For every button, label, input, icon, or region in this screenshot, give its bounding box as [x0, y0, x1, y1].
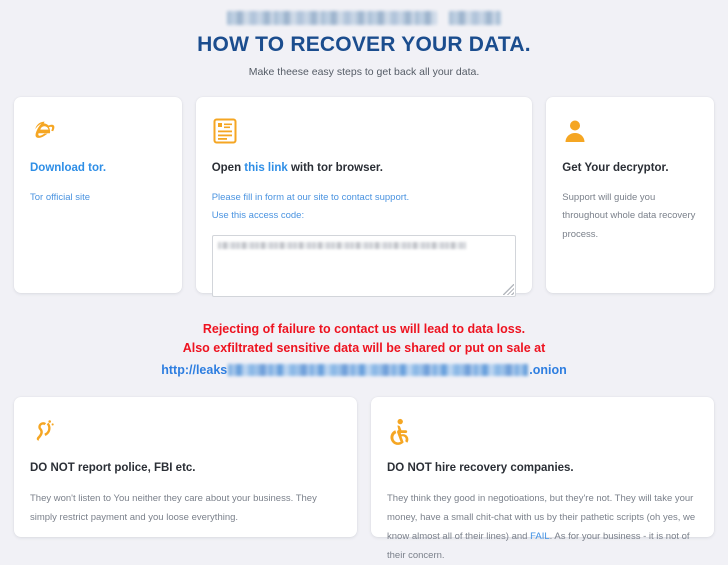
step-card-get-decryptor: Get Your decryptor. Support will guide y…	[546, 97, 714, 293]
page-subtitle: Make theese easy steps to get back all y…	[0, 66, 728, 78]
steps-row: Download tor. Tor official site Open thi…	[0, 97, 728, 293]
page-title: HOW TO RECOVER YOUR DATA.	[0, 33, 728, 57]
title-prefix: Open	[212, 162, 245, 174]
this-link-anchor[interactable]: this link	[244, 162, 287, 174]
notice-card-title: DO NOT hire recovery companies.	[387, 461, 698, 476]
redacted-bar-secondary	[449, 11, 501, 25]
deaf-ear-icon	[30, 417, 341, 447]
title-suffix: with tor browser.	[288, 162, 383, 174]
redacted-header-strip	[0, 9, 728, 27]
url-prefix: http://leaks	[161, 363, 227, 377]
step-card-download-tor: Download tor. Tor official site	[14, 97, 182, 293]
warning-line-1: Rejecting of failure to contact us will …	[0, 320, 728, 339]
clipboard-list-icon	[212, 117, 517, 147]
step-card-open-link: Open this link with tor browser. Please …	[196, 97, 533, 293]
step-card-title: Download tor.	[30, 161, 166, 176]
redacted-bar-primary	[227, 11, 437, 25]
user-icon	[562, 117, 698, 147]
leak-site-url[interactable]: http://leaks.onion	[0, 361, 728, 380]
notice-card-body: They think they good in negotioations, b…	[387, 489, 698, 565]
contact-support-text[interactable]: Please fill in form at our site to conta…	[212, 189, 517, 208]
redacted-url-segment	[228, 364, 528, 376]
fail-highlight[interactable]: FAIL	[530, 531, 550, 542]
step-card-title: Open this link with tor browser.	[212, 161, 517, 176]
notice-card-do-not-report: DO NOT report police, FBI etc. They won'…	[14, 397, 357, 537]
ransom-note-page: HOW TO RECOVER YOUR DATA. Make theese ea…	[0, 0, 728, 561]
notice-card-body: They won't listen to You neither they ca…	[30, 489, 341, 527]
tor-official-site-link[interactable]: Tor official site	[30, 189, 166, 208]
textarea-resize-handle[interactable]	[503, 284, 514, 295]
url-suffix: .onion	[529, 363, 567, 377]
wheelchair-accessible-icon	[387, 417, 698, 447]
step-card-text: Support will guide you throughout whole …	[562, 189, 698, 245]
warning-line-2: Also exfiltrated sensitive data will be …	[0, 339, 728, 358]
page-header: HOW TO RECOVER YOUR DATA. Make theese ea…	[0, 0, 728, 78]
access-code-label[interactable]: Use this access code:	[212, 207, 517, 226]
redacted-access-code	[218, 242, 466, 249]
notices-row: DO NOT report police, FBI etc. They won'…	[0, 397, 728, 537]
warning-block: Rejecting of failure to contact us will …	[0, 320, 728, 380]
access-code-textarea[interactable]	[212, 235, 517, 297]
internet-explorer-icon	[30, 117, 166, 147]
step-card-title: Get Your decryptor.	[562, 161, 698, 176]
notice-card-do-not-hire: DO NOT hire recovery companies. They thi…	[371, 397, 714, 537]
notice-card-title: DO NOT report police, FBI etc.	[30, 461, 341, 476]
